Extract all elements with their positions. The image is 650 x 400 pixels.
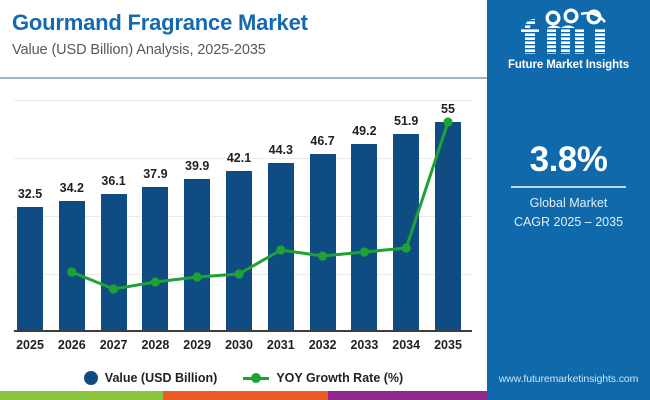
fmi-logo-text: Future Market Insights <box>487 59 650 71</box>
fmi-logo-mark-icon <box>509 8 629 58</box>
bottom-bar-purple <box>328 391 487 400</box>
legend-item-2[interactable]: YOY Growth Rate (%) <box>243 371 403 385</box>
cagr-value: 3.8% <box>487 140 650 180</box>
x-axis-labels: 2025202620272028202920302031203220332034… <box>0 0 487 400</box>
legend-label: YOY Growth Rate (%) <box>276 371 403 385</box>
bottom-bar-green <box>0 391 163 400</box>
website-url: www.futuremarketinsights.com <box>487 373 650 385</box>
cagr-caption: Global Market CAGR 2025 – 2035 <box>487 194 650 232</box>
bottom-bar-orange <box>163 391 328 400</box>
cagr-caption-line2: CAGR 2025 – 2035 <box>487 213 650 232</box>
legend-line-icon <box>243 371 269 385</box>
panel-divider <box>511 186 626 188</box>
bottom-color-bar <box>0 391 487 400</box>
cagr-caption-line1: Global Market <box>487 194 650 213</box>
x-tick-2035: 2035 <box>421 338 475 352</box>
fmi-logo: Future Market Insights <box>487 8 650 71</box>
brand-panel: Future Market Insights 3.8% Global Marke… <box>487 0 650 400</box>
chart-panel: Gourmand Fragrance Market Value (USD Bil… <box>0 0 487 400</box>
legend-dot-icon <box>84 371 98 385</box>
legend-label: Value (USD Billion) <box>105 371 218 385</box>
infographic-root: Gourmand Fragrance Market Value (USD Bil… <box>0 0 650 400</box>
chart-legend: Value (USD Billion)YOY Growth Rate (%) <box>0 367 487 389</box>
legend-item-1[interactable]: Value (USD Billion) <box>84 371 218 385</box>
